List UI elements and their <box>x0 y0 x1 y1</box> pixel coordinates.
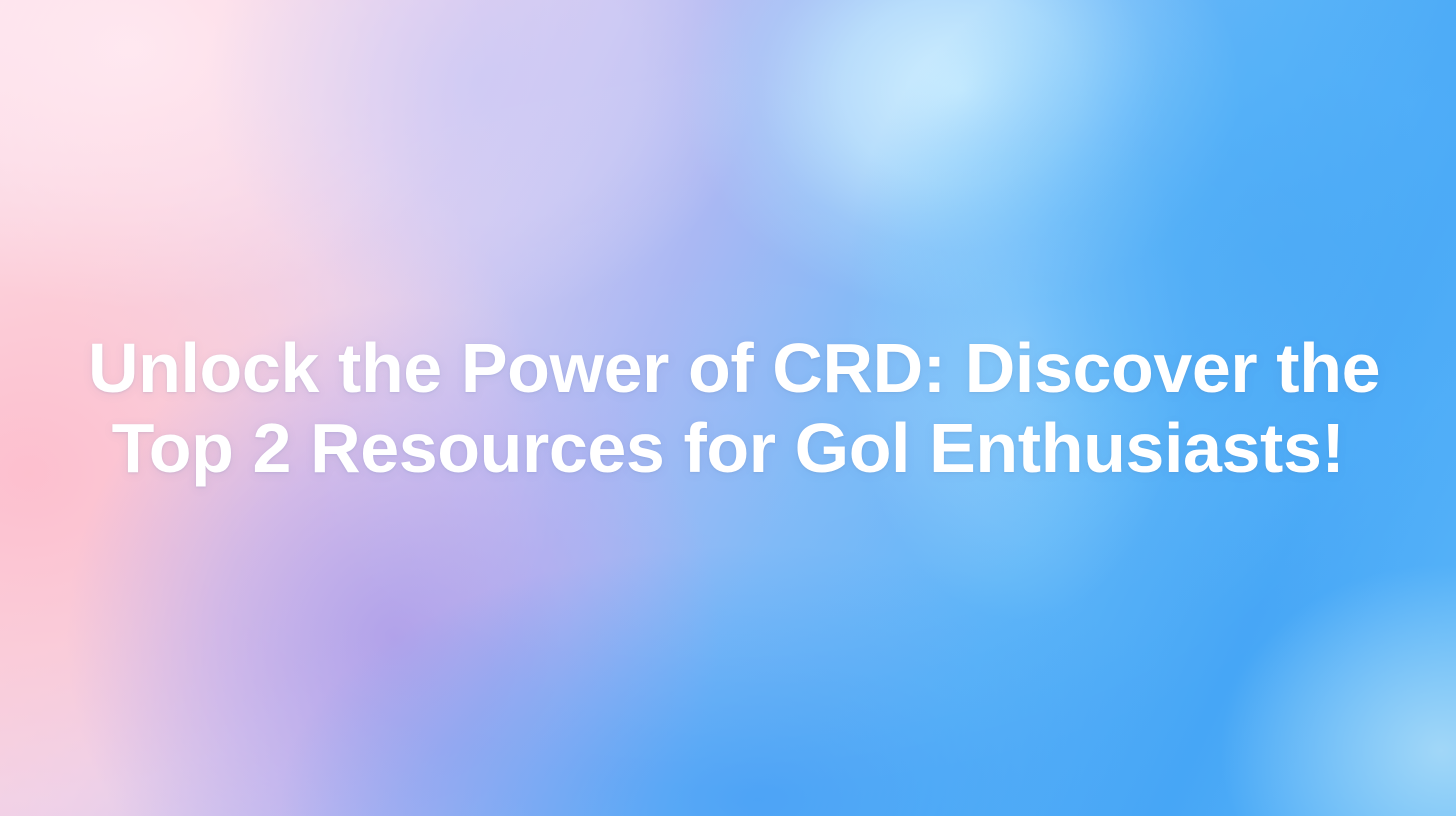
headline-block: Unlock the Power of CRD: Discover the To… <box>68 328 1388 488</box>
hero-card: Unlock the Power of CRD: Discover the To… <box>0 0 1456 816</box>
page-title: Unlock the Power of CRD: Discover the To… <box>88 328 1368 488</box>
page-title-line-2: Top 2 Resources for Gol Enthusiasts! <box>88 408 1368 488</box>
page-title-line-1: Unlock the Power of CRD: Discover the <box>88 328 1368 408</box>
